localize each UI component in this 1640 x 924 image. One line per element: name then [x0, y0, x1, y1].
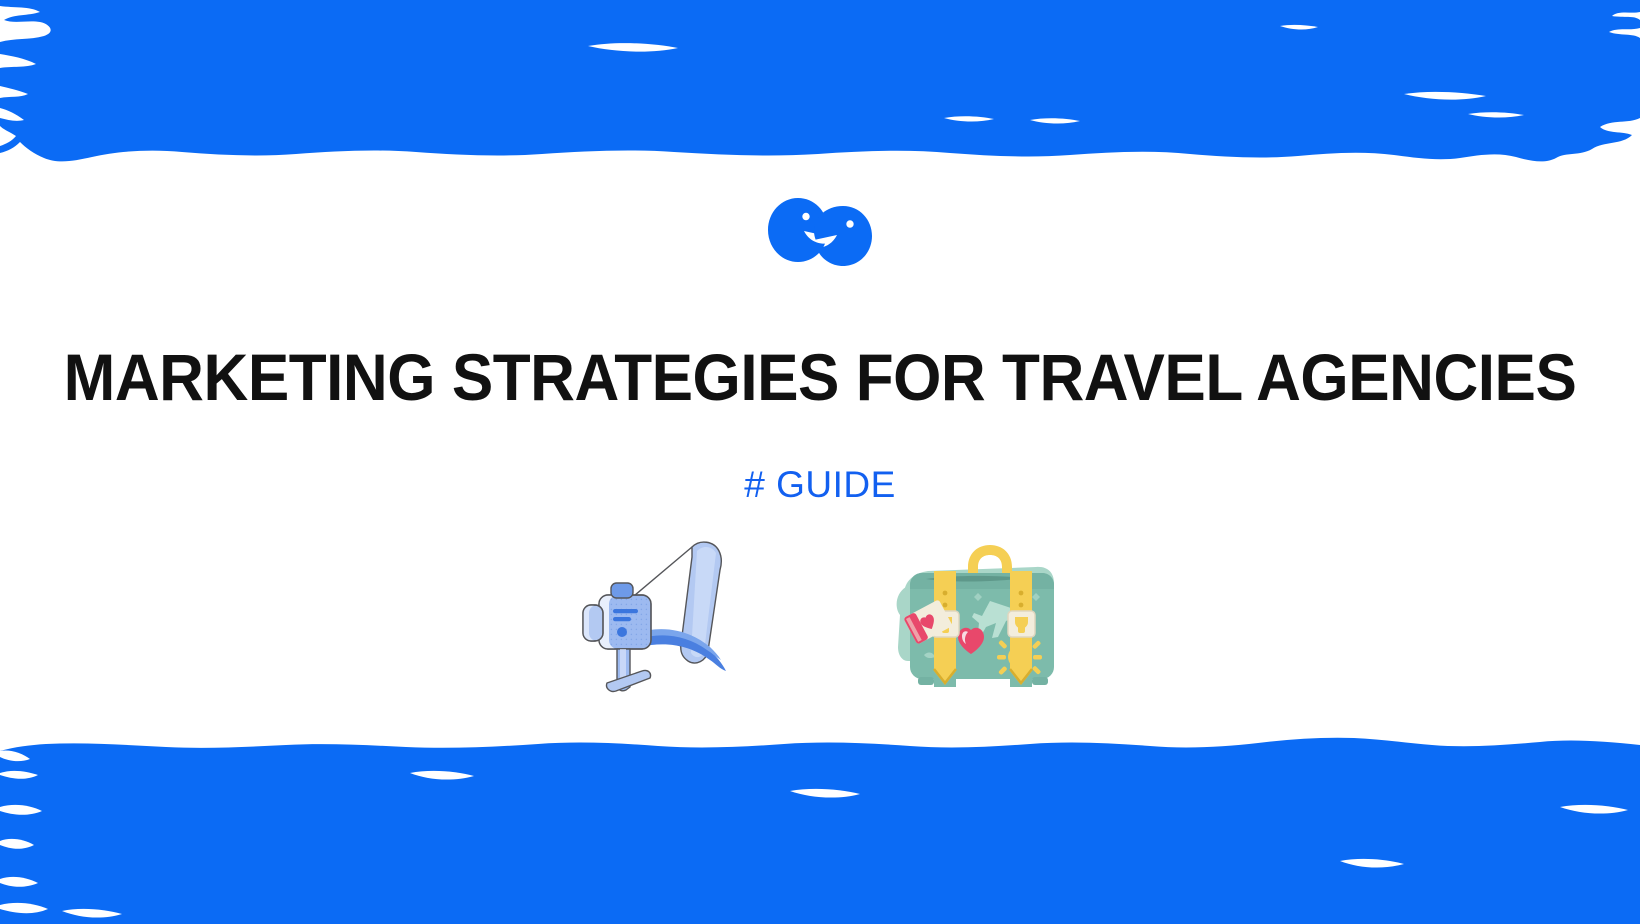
- blue-brush-stroke-top: [0, 0, 1640, 188]
- brand-logo-wrapper: [0, 196, 1640, 270]
- blue-brush-stroke-bottom: [0, 711, 1640, 924]
- page-title: MARKETING STRATEGIES FOR TRAVEL AGENCIES: [49, 338, 1591, 416]
- megaphone-illustration: [570, 533, 738, 693]
- slide-canvas: MARKETING STRATEGIES FOR TRAVEL AGENCIES…: [0, 0, 1640, 924]
- page-subtitle-guide-tag: # GUIDE: [0, 462, 1640, 508]
- travel-suitcase-illustration: [886, 537, 1070, 689]
- two-speech-bubble-faces-logo: [768, 196, 872, 270]
- illustration-row: [0, 528, 1640, 698]
